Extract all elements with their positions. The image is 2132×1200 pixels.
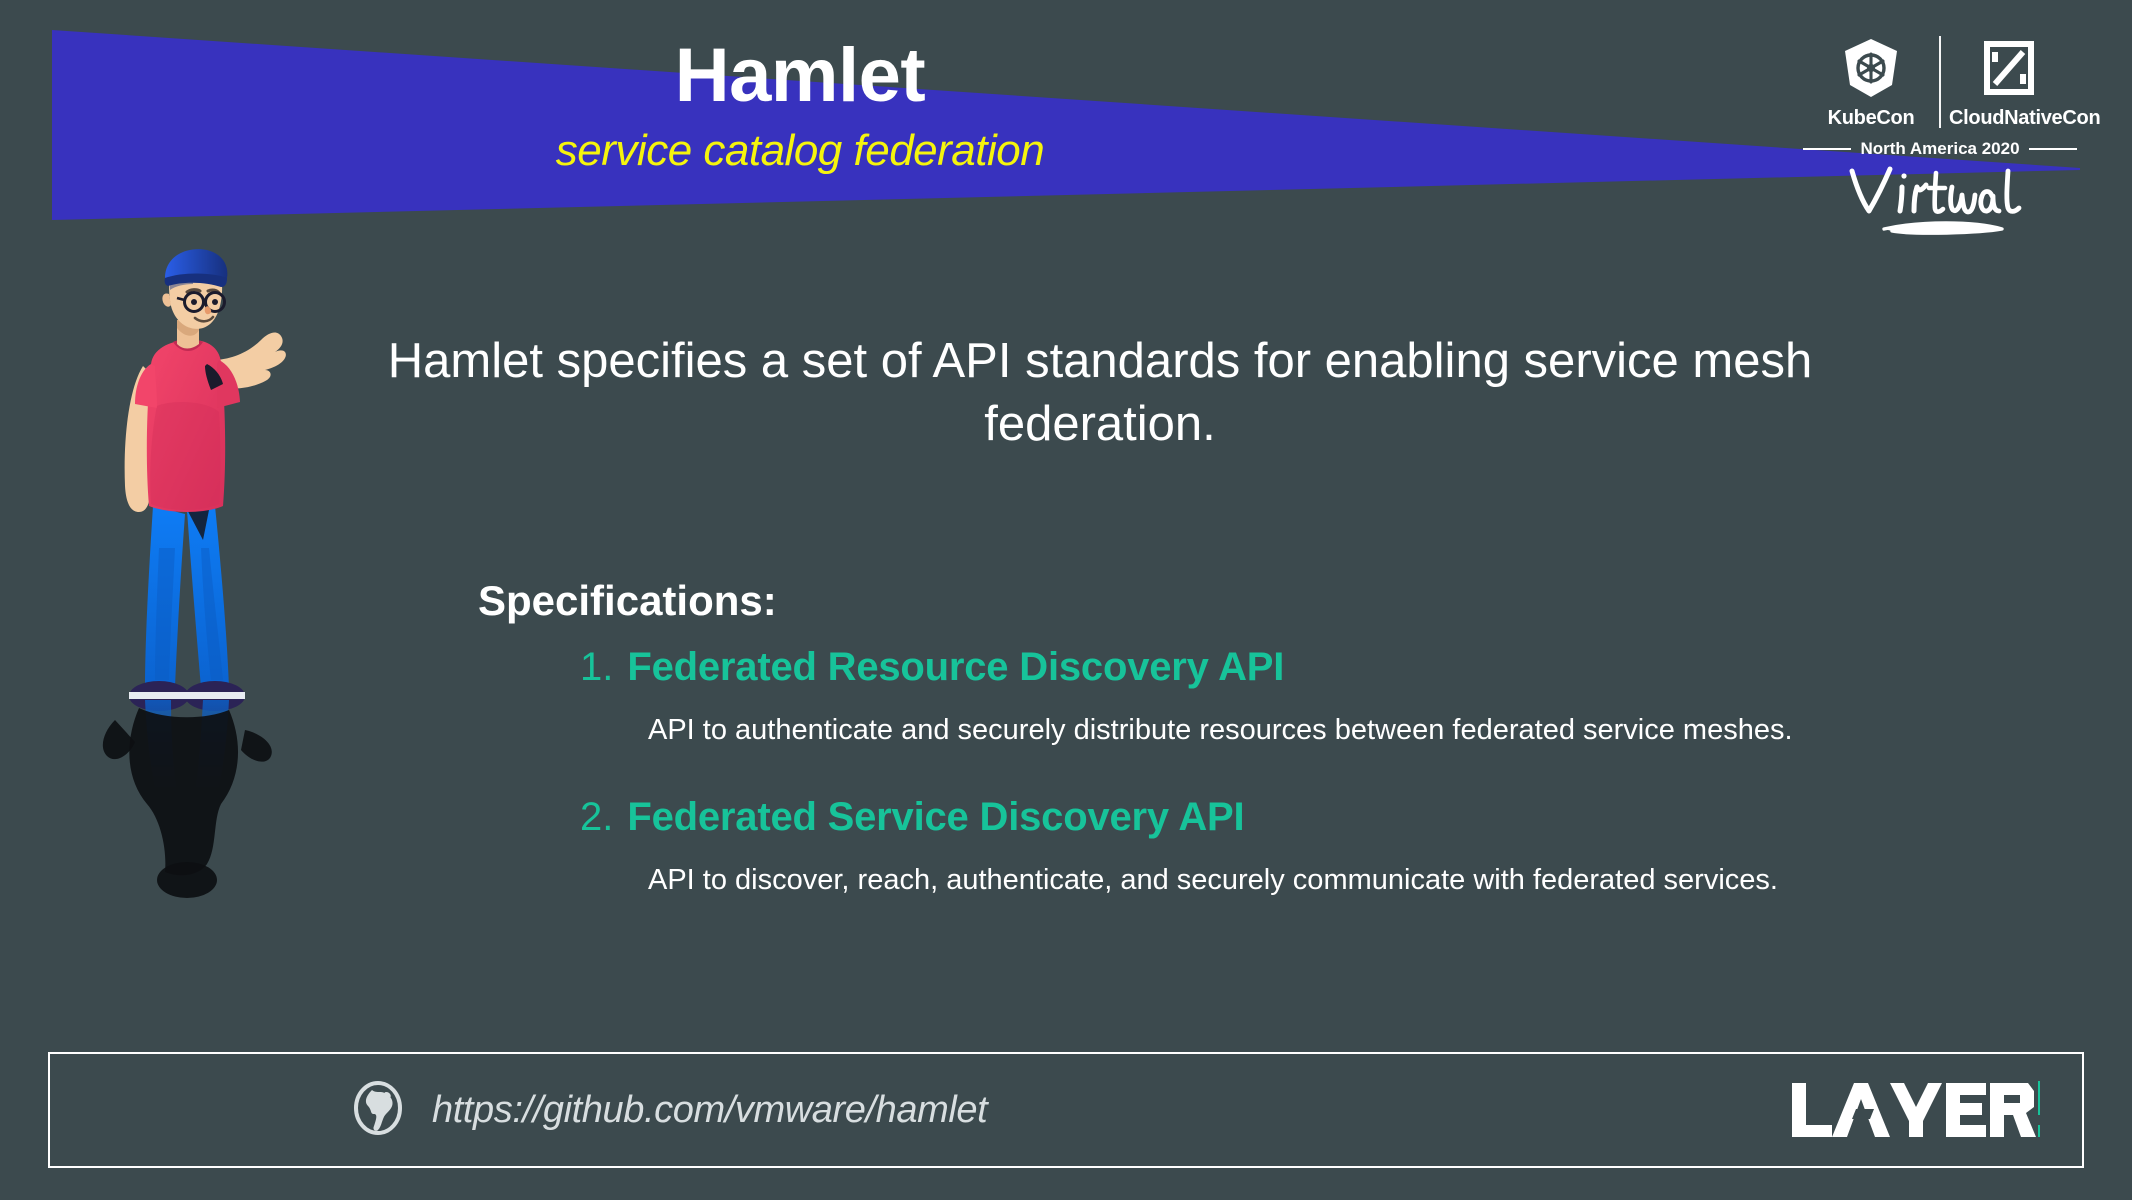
list-item: 2. Federated Service Discovery API API t… [580, 795, 2060, 897]
character-reflection [95, 700, 345, 900]
title-block: Hamlet service catalog federation [0, 38, 1600, 176]
kubecon-label: KubeCon [1811, 107, 1931, 130]
kubecon-block: KubeCon [1811, 37, 1931, 130]
region-year-label: North America 2020 [1860, 139, 2019, 159]
footer-bar: https://github.com/vmware/hamlet [48, 1052, 2084, 1168]
spec-description: API to authenticate and securely distrib… [648, 714, 2060, 747]
globe-icon [350, 1080, 406, 1141]
cncf-square-icon [1949, 37, 2069, 99]
repository-url[interactable]: https://github.com/vmware/hamlet [432, 1089, 987, 1132]
page-title: Hamlet [0, 38, 1600, 114]
virtual-wordmark [1800, 163, 2080, 237]
spec-title: Federated Resource Discovery API [627, 645, 1284, 690]
cloudnativecon-block: CloudNativeCon [1949, 37, 2069, 130]
region-rule-right [2029, 148, 2077, 150]
spec-heading-row: 1. Federated Resource Discovery API [580, 645, 2060, 690]
spec-heading-row: 2. Federated Service Discovery API [580, 795, 2060, 840]
logo-divider [1939, 36, 1941, 128]
specifications-list: 1. Federated Resource Discovery API API … [580, 645, 2060, 945]
spec-title: Federated Service Discovery API [627, 795, 1244, 840]
spec-number: 2. [580, 795, 613, 840]
conference-region: North America 2020 [1800, 139, 2080, 159]
list-item: 1. Federated Resource Discovery API API … [580, 645, 2060, 747]
conference-logo-row: KubeCon CloudNativeCon [1800, 36, 2080, 130]
layer5-logo [1790, 1079, 2040, 1141]
kubernetes-helm-icon [1811, 37, 1931, 99]
spec-number: 1. [580, 645, 613, 690]
intro-paragraph: Hamlet specifies a set of API standards … [360, 330, 1840, 455]
region-rule-left [1803, 148, 1851, 150]
spec-description: API to discover, reach, authenticate, an… [648, 864, 2060, 897]
footer-link-group[interactable]: https://github.com/vmware/hamlet [350, 1080, 987, 1141]
specifications-heading: Specifications: [478, 577, 777, 625]
conference-logo: KubeCon CloudNativeCon North America 202… [1800, 36, 2080, 237]
page-subtitle: service catalog federation [0, 126, 1600, 176]
cloudnativecon-label: CloudNativeCon [1949, 107, 2069, 130]
slide-canvas: Hamlet service catalog federation [0, 0, 2132, 1200]
